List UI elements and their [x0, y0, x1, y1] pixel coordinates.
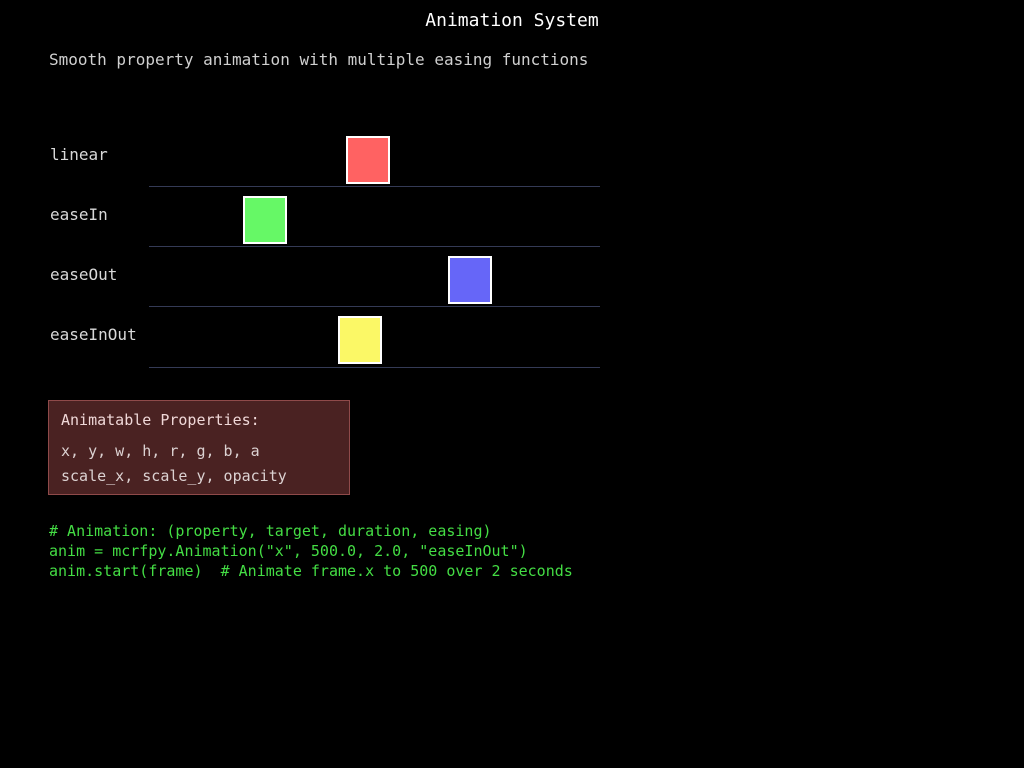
animatable-properties-panel: Animatable Properties: x, y, w, h, r, g,…: [48, 400, 350, 495]
animated-box-easeinout[interactable]: [338, 316, 382, 364]
code-example-block: # Animation: (property, target, duration…: [49, 521, 749, 581]
animatable-properties-line-2: scale_x, scale_y, opacity: [61, 467, 287, 486]
code-line-comment: # Animation: (property, target, duration…: [49, 521, 749, 541]
app-window: Animation System Smooth property animati…: [0, 0, 1024, 768]
animation-tracks: lineareaseIneaseOuteaseInOut: [0, 0, 1024, 768]
animated-box-easeout[interactable]: [448, 256, 492, 304]
track-label-easeinout: easeInOut: [50, 325, 137, 345]
track-rail-easein: [149, 246, 600, 247]
animation-track-easeinout: easeInOut: [0, 0, 1024, 60]
animated-box-linear[interactable]: [346, 136, 390, 184]
track-label-linear: linear: [50, 145, 108, 165]
animatable-properties-title: Animatable Properties:: [61, 411, 260, 430]
track-rail-easeout: [149, 306, 600, 307]
code-line-start-animation: anim.start(frame) # Animate frame.x to 5…: [49, 561, 749, 581]
track-label-easein: easeIn: [50, 205, 108, 225]
track-rail-easeinout: [149, 367, 600, 368]
animated-box-easein[interactable]: [243, 196, 287, 244]
track-label-easeout: easeOut: [50, 265, 117, 285]
track-rail-linear: [149, 186, 600, 187]
animatable-properties-line-1: x, y, w, h, r, g, b, a: [61, 442, 260, 461]
code-line-create-animation: anim = mcrfpy.Animation("x", 500.0, 2.0,…: [49, 541, 749, 561]
